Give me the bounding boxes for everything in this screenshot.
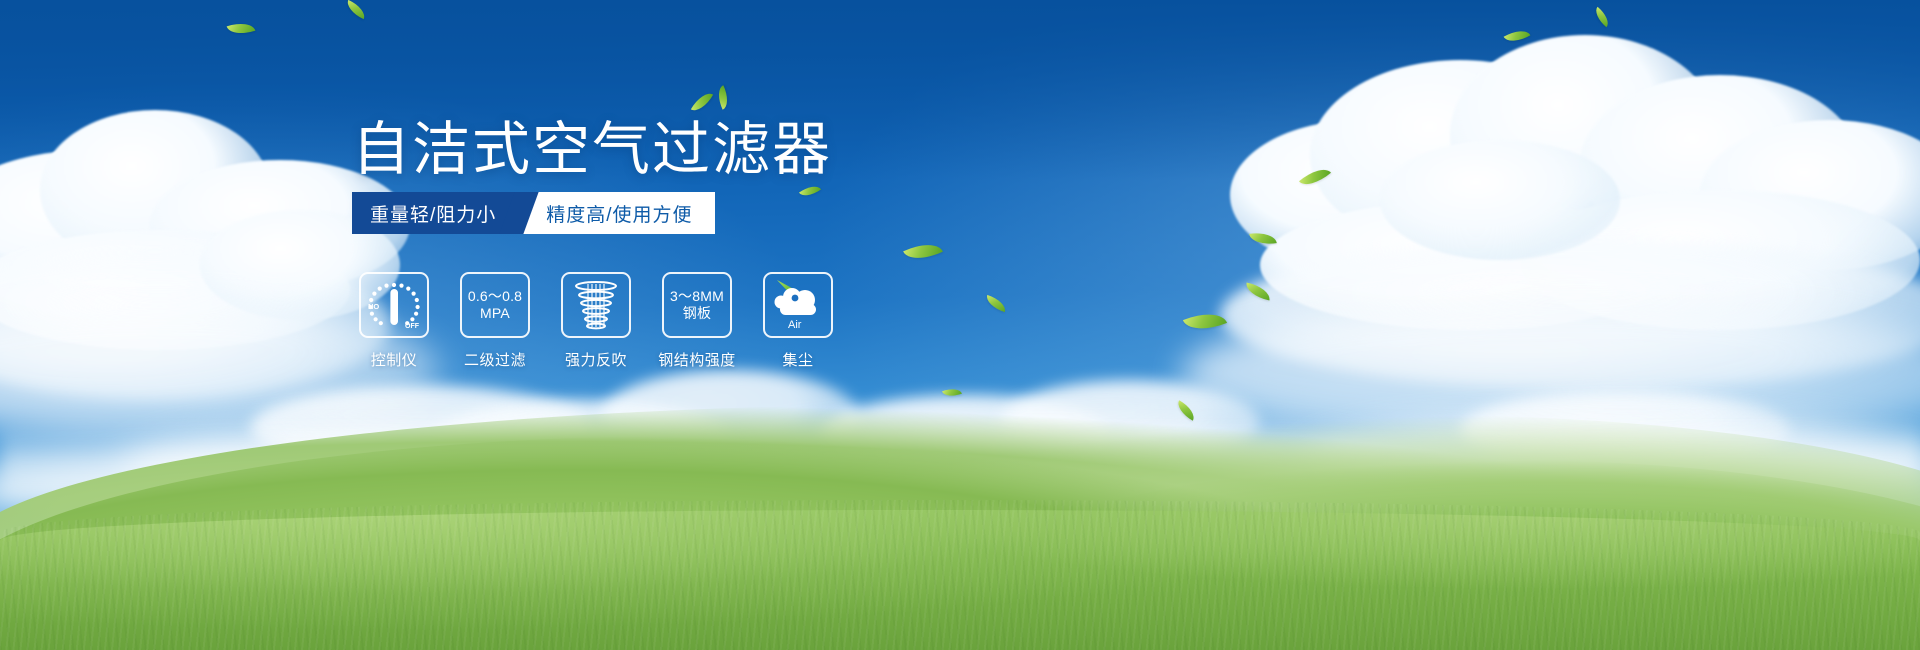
steel-plate-icon: 3～8MM 钢板: [662, 272, 732, 338]
pressure-range-text: 0.6～0.8: [468, 288, 522, 305]
feature-item: 0.6～0.8 MPA 二级过滤: [459, 272, 531, 370]
steel-thickness-text: 3～8MM: [670, 288, 724, 305]
steel-material-text: 钢板: [670, 305, 724, 322]
filter-coil-icon: [561, 272, 631, 338]
feature-label: 控制仪: [371, 349, 418, 370]
feature-list: NO OFF 控制仪 0.6～0.8 MPA 二级过滤: [358, 272, 834, 370]
svg-text:NO: NO: [368, 302, 379, 311]
pressure-value-icon: 0.6～0.8 MPA: [460, 272, 530, 338]
gauge-dial-icon: NO OFF: [359, 272, 429, 338]
feature-item: 3～8MM 钢板 钢结构强度: [661, 272, 733, 370]
feature-item: Air 集尘: [762, 272, 834, 370]
feature-label: 钢结构强度: [658, 349, 736, 370]
pressure-unit-text: MPA: [468, 305, 522, 322]
svg-text:OFF: OFF: [405, 323, 420, 330]
badge-lightweight: 重量轻/阻力小: [352, 192, 520, 234]
badge-group: 重量轻/阻力小 精度高/使用方便: [352, 192, 715, 234]
page-title: 自洁式空气过滤器: [352, 119, 832, 181]
feature-label: 强力反吹: [565, 349, 627, 370]
badge-precision: 精度高/使用方便: [516, 192, 714, 234]
air-cloud-icon: Air: [763, 272, 833, 338]
feature-item: NO OFF 控制仪: [358, 272, 430, 370]
banner-stage: 自洁式空气过滤器 重量轻/阻力小 精度高/使用方便: [0, 0, 1920, 650]
feature-label: 集尘: [782, 349, 813, 370]
feature-label: 二级过滤: [464, 349, 526, 370]
feature-item: 强力反吹: [560, 272, 632, 370]
air-label-text: Air: [788, 319, 802, 331]
